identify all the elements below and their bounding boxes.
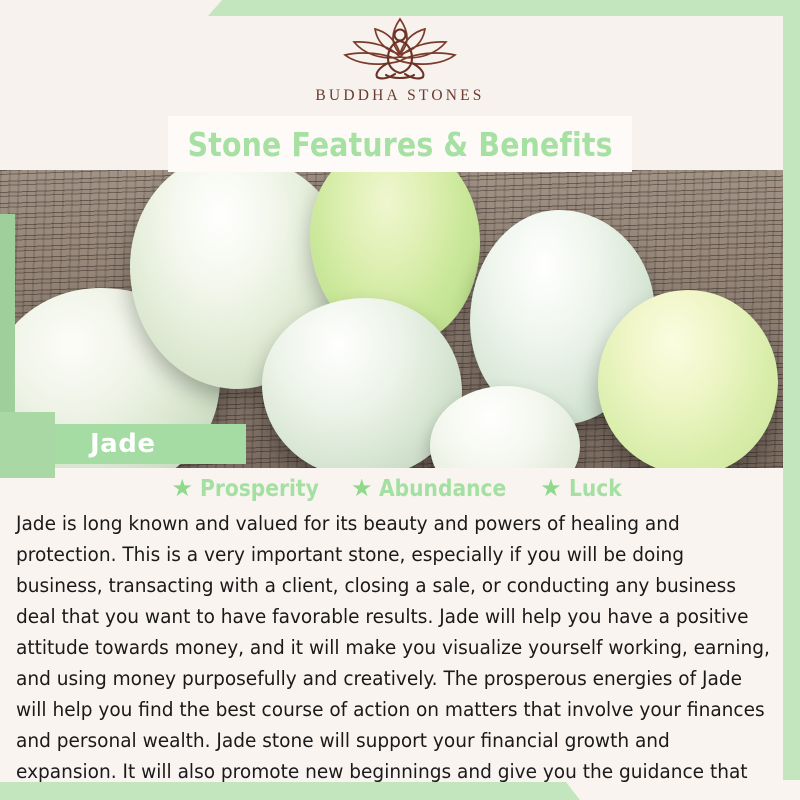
star-icon: ★	[171, 477, 193, 501]
brand-logo: BUDDHA STONES	[315, 15, 484, 105]
benefit-label: Luck	[569, 476, 622, 502]
decor-right-bar	[783, 12, 800, 780]
brand-name: BUDDHA STONES	[315, 87, 484, 105]
benefit-item-luck: ★ Luck	[540, 476, 628, 502]
title-plate: Stone Features & Benefits	[168, 116, 632, 172]
star-icon: ★	[351, 477, 373, 501]
decor-left-block	[0, 412, 55, 478]
benefit-item-prosperity: ★ Prosperity	[171, 476, 334, 502]
jade-stone-6	[598, 290, 778, 468]
decor-top-bar	[208, 0, 800, 16]
decor-bottom-bar	[0, 782, 580, 800]
page-title: Stone Features & Benefits	[187, 128, 612, 161]
benefit-item-abundance: ★ Abundance	[351, 476, 524, 502]
stone-name-label: Jade	[90, 429, 155, 459]
stone-benefits-poster: BUDDHA STONES Stone Features & Benefits …	[0, 0, 800, 800]
stone-description: Jade is long known and valued for its be…	[16, 508, 770, 800]
content-section: ★ Prosperity ★ Abundance ★ Luck Jade is …	[0, 468, 800, 800]
benefit-label: Prosperity	[200, 476, 319, 502]
poster-header: BUDDHA STONES	[0, 0, 800, 120]
benefits-row: ★ Prosperity ★ Abundance ★ Luck	[0, 468, 800, 502]
benefit-label: Abundance	[379, 476, 506, 502]
star-icon: ★	[540, 477, 562, 501]
lotus-meditation-icon	[325, 15, 475, 85]
